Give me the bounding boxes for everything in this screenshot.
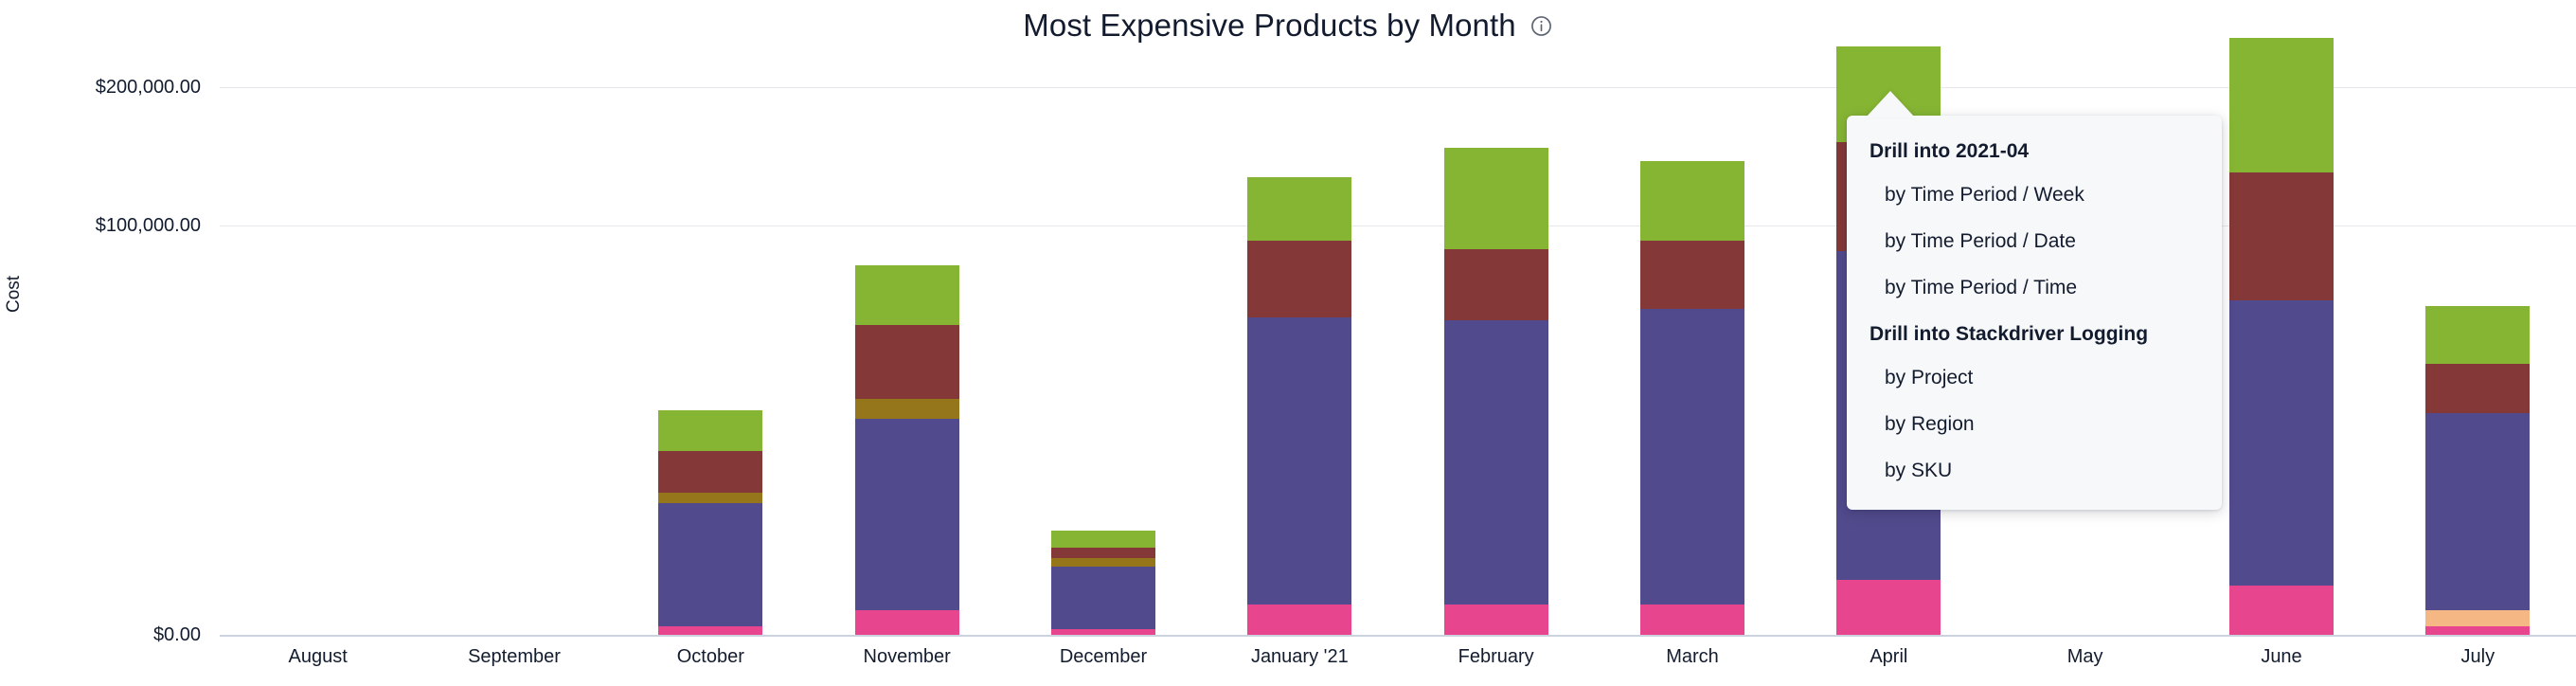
bar-segment-series-5-maroon[interactable] (658, 451, 762, 492)
x-axis-label: February (1458, 646, 1534, 668)
bar-january-21[interactable] (1247, 177, 1351, 635)
x-axis-label: September (468, 646, 561, 668)
bar-segment-series-1-pink[interactable] (1640, 605, 1744, 635)
bar-segment-series-6-green[interactable] (2425, 306, 2530, 364)
bar-segment-series-3-purple[interactable] (658, 503, 762, 626)
bar-segment-series-5-maroon[interactable] (1640, 241, 1744, 309)
bar-segment-series-6-green[interactable] (855, 265, 959, 326)
bar-segment-series-3-purple[interactable] (2425, 413, 2530, 610)
x-axis-labels: AugustSeptemberOctoberNovemberDecemberJa… (220, 646, 2576, 686)
bar-segment-series-4-olive[interactable] (658, 493, 762, 504)
bar-segment-series-3-purple[interactable] (1640, 309, 1744, 605)
x-axis-label: December (1060, 646, 1147, 668)
drill-menu-item[interactable]: by Project (1847, 355, 2222, 402)
bar-segment-series-6-green[interactable] (2229, 38, 2334, 172)
bar-segment-series-4-olive[interactable] (855, 399, 959, 418)
bar-segment-series-1-pink[interactable] (2425, 626, 2530, 635)
x-axis-label: April (1869, 646, 1907, 668)
bar-segment-series-6-green[interactable] (658, 410, 762, 451)
bar-segment-series-3-purple[interactable] (855, 419, 959, 610)
x-axis-label: June (2261, 646, 2301, 668)
bar-segment-series-2-peach[interactable] (2425, 610, 2530, 626)
bar-december[interactable] (1051, 531, 1155, 635)
bar-segment-series-5-maroon[interactable] (1051, 548, 1155, 559)
y-tick-label-100k: $100,000.00 (11, 215, 201, 237)
x-axis-label: January '21 (1251, 646, 1349, 668)
drill-menu-item[interactable]: by Time Period / Week (1847, 172, 2222, 219)
bar-segment-series-4-olive[interactable] (1051, 558, 1155, 567)
bar-segment-series-3-purple[interactable] (1247, 317, 1351, 605)
bar-segment-series-3-purple[interactable] (2229, 300, 2334, 586)
y-axis-title: Cost (4, 276, 25, 313)
bar-segment-series-3-purple[interactable] (1444, 320, 1548, 605)
bar-segment-series-6-green[interactable] (1051, 531, 1155, 547)
y-tick-label-0: $0.00 (11, 624, 201, 646)
bar-series-container (220, 0, 2576, 686)
x-axis-label: October (677, 646, 744, 668)
bar-segment-series-1-pink[interactable] (1051, 629, 1155, 635)
bar-segment-series-5-maroon[interactable] (1247, 241, 1351, 317)
bar-november[interactable] (855, 265, 959, 635)
x-axis-label: July (2461, 646, 2495, 668)
bar-july[interactable] (2425, 306, 2530, 635)
bar-segment-series-1-pink[interactable] (855, 610, 959, 635)
x-axis-label: November (864, 646, 951, 668)
bar-segment-series-1-pink[interactable] (1836, 580, 1941, 635)
x-axis-label: August (289, 646, 348, 668)
drill-popup-pointer (1866, 91, 1915, 117)
drill-popup[interactable]: Drill into 2021-04by Time Period / Weekb… (1847, 116, 2222, 510)
bar-march[interactable] (1640, 161, 1744, 635)
bar-segment-series-6-green[interactable] (1640, 161, 1744, 241)
drill-section-header: Drill into Stackdriver Logging (1847, 312, 2222, 355)
bar-segment-series-1-pink[interactable] (1247, 605, 1351, 635)
x-axis-label: May (2067, 646, 2103, 668)
bar-segment-series-6-green[interactable] (1444, 148, 1548, 249)
y-tick-label-200k: $200,000.00 (11, 77, 201, 99)
bar-segment-series-5-maroon[interactable] (855, 325, 959, 399)
drill-menu-item[interactable]: by Time Period / Date (1847, 219, 2222, 265)
bar-segment-series-1-pink[interactable] (658, 626, 762, 635)
bar-segment-series-3-purple[interactable] (1051, 567, 1155, 629)
bar-segment-series-6-green[interactable] (1247, 177, 1351, 240)
bar-june[interactable] (2229, 38, 2334, 635)
drill-menu-item[interactable]: by Region (1847, 402, 2222, 448)
bar-segment-series-5-maroon[interactable] (1444, 249, 1548, 320)
bar-february[interactable] (1444, 148, 1548, 635)
bar-october[interactable] (658, 410, 762, 635)
bar-segment-series-1-pink[interactable] (1444, 605, 1548, 635)
drill-menu-item[interactable]: by Time Period / Time (1847, 265, 2222, 312)
drill-section-header: Drill into 2021-04 (1847, 129, 2222, 172)
bar-segment-series-1-pink[interactable] (2229, 586, 2334, 635)
bar-segment-series-5-maroon[interactable] (2229, 172, 2334, 301)
x-axis-label: March (1666, 646, 1719, 668)
drill-menu-item[interactable]: by SKU (1847, 448, 2222, 495)
bar-segment-series-5-maroon[interactable] (2425, 364, 2530, 413)
